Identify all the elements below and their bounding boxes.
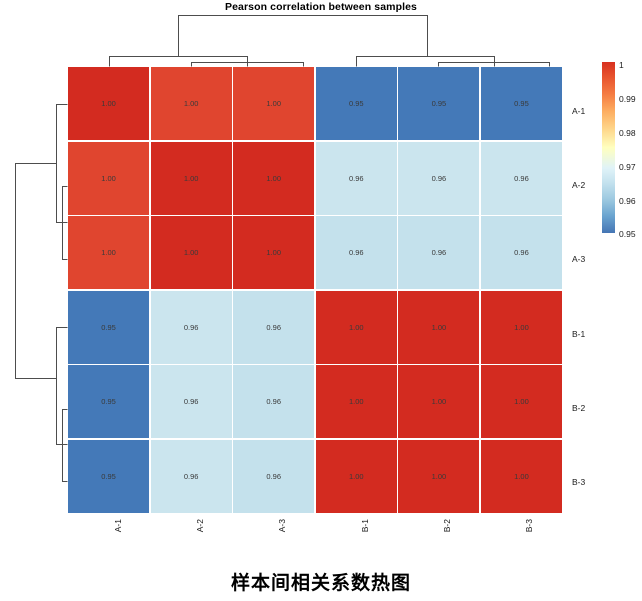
heatmap-cell: 0.96 <box>481 216 562 289</box>
heatmap-cell: 1.00 <box>481 365 562 438</box>
col-label-5: B-3 <box>524 519 534 532</box>
heatmap-cell: 1.00 <box>316 365 397 438</box>
figure-caption: 样本间相关系数热图 <box>0 568 642 595</box>
heatmap-cell-value: 0.96 <box>184 323 199 332</box>
dendro-link-b <box>357 57 495 67</box>
heatmap-cell: 0.95 <box>68 440 149 513</box>
heatmap-cell-value: 0.96 <box>514 248 529 257</box>
heatmap-cell-value: 1.00 <box>514 323 529 332</box>
heatmap-cell-value: 0.96 <box>266 323 281 332</box>
heatmap-cell: 1.00 <box>316 291 397 364</box>
heatmap-cell-value: 0.96 <box>266 397 281 406</box>
heatmap-cell-value: 0.95 <box>101 397 116 406</box>
dendro-link-a <box>110 57 248 67</box>
heatmap-cell-value: 1.00 <box>184 174 199 183</box>
heatmap-cell-value: 0.96 <box>266 472 281 481</box>
heatmap-cell: 1.00 <box>481 291 562 364</box>
heatmap-cell: 1.00 <box>398 440 479 513</box>
heatmap-cell-value: 1.00 <box>266 174 281 183</box>
heatmap-cell-value: 0.95 <box>514 99 529 108</box>
heatmap-cell: 0.96 <box>316 142 397 215</box>
col-label-3: B-1 <box>360 519 370 532</box>
heatmap-cell: 0.96 <box>233 291 314 364</box>
heatmap-cell: 0.95 <box>398 67 479 140</box>
heatmap-cell: 0.95 <box>68 291 149 364</box>
heatmap-cell-value: 1.00 <box>101 248 116 257</box>
heatmap-cell: 1.00 <box>233 67 314 140</box>
heatmap-cell: 1.00 <box>233 142 314 215</box>
heatmap-cell-value: 0.96 <box>184 472 199 481</box>
heatmap-cell-value: 0.96 <box>432 174 447 183</box>
heatmap-cell-value: 1.00 <box>432 397 447 406</box>
heatmap-cell: 0.95 <box>68 365 149 438</box>
heatmap-cell-value: 1.00 <box>349 323 364 332</box>
heatmap-cell-value: 1.00 <box>266 99 281 108</box>
heatmap-cell-value: 1.00 <box>349 397 364 406</box>
heatmap-cell: 0.96 <box>398 216 479 289</box>
heatmap-cell: 1.00 <box>398 291 479 364</box>
heatmap-figure: Pearson correlation between samples 1.00… <box>0 0 642 601</box>
heatmap-cell-value: 1.00 <box>101 99 116 108</box>
heatmap-cell-value: 1.00 <box>266 248 281 257</box>
heatmap-cell: 1.00 <box>233 216 314 289</box>
heatmap-cell: 1.00 <box>68 142 149 215</box>
colorbar <box>602 62 615 233</box>
dendro-link-b23-row <box>63 410 68 482</box>
heatmap-cell-value: 1.00 <box>349 472 364 481</box>
heatmap-cell-value: 0.96 <box>349 174 364 183</box>
heatmap-cell: 1.00 <box>481 440 562 513</box>
heatmap-cell-value: 1.00 <box>514 472 529 481</box>
col-label-1: A-2 <box>195 519 205 532</box>
heatmap-cell-value: 0.96 <box>514 174 529 183</box>
col-label-0: A-1 <box>113 519 123 532</box>
heatmap-cell-value: 0.96 <box>184 397 199 406</box>
heatmap-cell: 1.00 <box>398 365 479 438</box>
heatmap-cell: 0.96 <box>481 142 562 215</box>
heatmap-cell-value: 0.96 <box>349 248 364 257</box>
heatmap-cell-value: 1.00 <box>432 472 447 481</box>
heatmap-cell-value: 1.00 <box>514 397 529 406</box>
heatmap-cell: 0.96 <box>151 291 232 364</box>
heatmap-cell-value: 0.95 <box>349 99 364 108</box>
heatmap-cell: 0.96 <box>316 216 397 289</box>
heatmap-cell: 1.00 <box>316 440 397 513</box>
heatmap-cell-value: 1.00 <box>432 323 447 332</box>
heatmap-cell-value: 0.96 <box>432 248 447 257</box>
row-dendrogram <box>0 0 68 601</box>
dendro-root-link <box>179 16 428 57</box>
colorbar-gradient <box>602 62 615 233</box>
heatmap-cell: 0.96 <box>151 440 232 513</box>
heatmap-cell: 1.00 <box>151 142 232 215</box>
heatmap-cell: 0.96 <box>233 365 314 438</box>
column-dendrogram <box>0 0 642 67</box>
heatmap-cell-value: 0.95 <box>101 323 116 332</box>
heatmap-cell: 1.00 <box>151 67 232 140</box>
heatmap-cell-value: 1.00 <box>101 174 116 183</box>
heatmap-cell: 0.96 <box>151 365 232 438</box>
col-label-2: A-3 <box>277 519 287 532</box>
dendro-root-link-row <box>16 164 57 379</box>
heatmap-grid: 1.001.001.000.950.950.951.001.001.000.96… <box>68 67 562 513</box>
heatmap-cell: 0.95 <box>316 67 397 140</box>
col-label-4: B-2 <box>442 519 452 532</box>
heatmap-cell: 1.00 <box>68 67 149 140</box>
heatmap-cell: 0.96 <box>233 440 314 513</box>
heatmap-cell-value: 0.95 <box>432 99 447 108</box>
heatmap-cell-value: 1.00 <box>184 99 199 108</box>
heatmap-cell: 0.96 <box>398 142 479 215</box>
heatmap-cell: 0.95 <box>481 67 562 140</box>
heatmap-cell-value: 1.00 <box>184 248 199 257</box>
heatmap-cell-value: 0.95 <box>101 472 116 481</box>
heatmap-cell: 1.00 <box>68 216 149 289</box>
heatmap-cell: 1.00 <box>151 216 232 289</box>
